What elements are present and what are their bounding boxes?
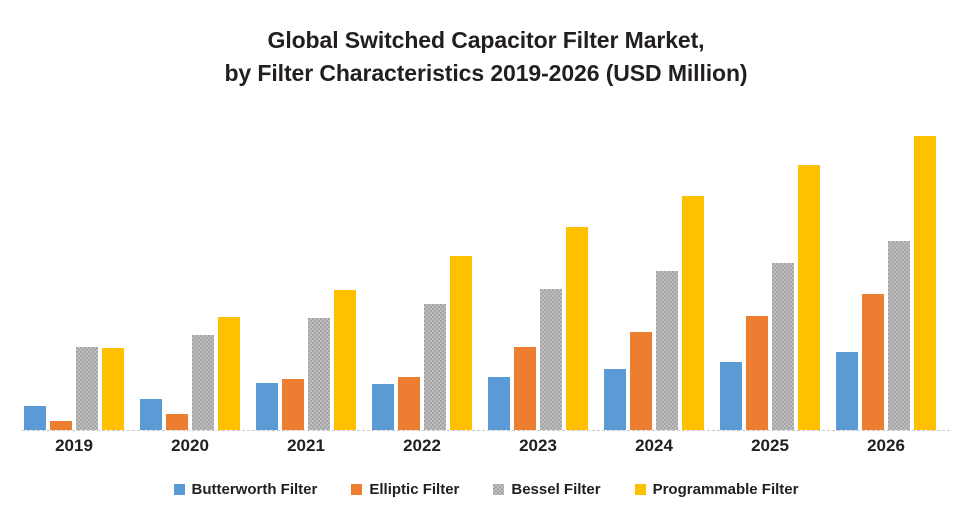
bar-programmable-2019 — [102, 348, 124, 430]
bar-butterworth-2022 — [372, 384, 394, 430]
category-label-2023: 2023 — [478, 436, 598, 456]
legend-item-butterworth[interactable]: Butterworth Filter — [174, 481, 318, 498]
legend-label-bessel: Bessel Filter — [511, 481, 600, 498]
category-axis-labels: 20192020202120222023202420252026 — [22, 436, 950, 460]
bar-bessel-2022 — [424, 304, 446, 430]
bar-programmable-2026 — [914, 136, 936, 430]
category-label-2026: 2026 — [826, 436, 946, 456]
bar-programmable-2025 — [798, 165, 820, 430]
legend-item-programmable[interactable]: Programmable Filter — [635, 481, 799, 498]
bar-elliptic-2023 — [514, 347, 536, 430]
legend-swatch-elliptic-icon — [351, 484, 362, 495]
bar-programmable-2023 — [566, 227, 588, 430]
bar-butterworth-2026 — [836, 352, 858, 430]
chart-title-line-1: Global Switched Capacitor Filter Market, — [0, 24, 972, 57]
chart-title: Global Switched Capacitor Filter Market,… — [0, 24, 972, 89]
legend-item-bessel[interactable]: Bessel Filter — [493, 481, 600, 498]
bar-programmable-2021 — [334, 290, 356, 430]
bar-programmable-2022 — [450, 256, 472, 430]
bar-butterworth-2025 — [720, 362, 742, 430]
bar-bessel-2021 — [308, 318, 330, 430]
bar-group-2019 — [24, 120, 124, 430]
legend-item-elliptic[interactable]: Elliptic Filter — [351, 481, 459, 498]
legend-label-butterworth: Butterworth Filter — [192, 481, 318, 498]
legend-swatch-bessel-icon — [493, 484, 504, 495]
bar-bessel-2026 — [888, 241, 910, 430]
bar-programmable-2020 — [218, 317, 240, 430]
bar-butterworth-2020 — [140, 399, 162, 430]
chart-legend: Butterworth FilterElliptic FilterBessel … — [0, 481, 972, 498]
bar-butterworth-2019 — [24, 406, 46, 430]
chart-title-line-2: by Filter Characteristics 2019-2026 (USD… — [0, 57, 972, 90]
category-label-2021: 2021 — [246, 436, 366, 456]
category-label-2025: 2025 — [710, 436, 830, 456]
bar-group-2024 — [604, 120, 704, 430]
category-axis-line — [22, 430, 950, 431]
legend-label-elliptic: Elliptic Filter — [369, 481, 459, 498]
bar-bessel-2024 — [656, 271, 678, 430]
bar-elliptic-2020 — [166, 414, 188, 430]
bar-elliptic-2019 — [50, 421, 72, 430]
bar-group-2023 — [488, 120, 588, 430]
bar-butterworth-2024 — [604, 369, 626, 430]
legend-label-programmable: Programmable Filter — [653, 481, 799, 498]
bar-elliptic-2022 — [398, 377, 420, 430]
category-label-2022: 2022 — [362, 436, 482, 456]
bar-butterworth-2021 — [256, 383, 278, 430]
bar-bessel-2023 — [540, 289, 562, 430]
bar-elliptic-2021 — [282, 379, 304, 430]
bar-group-2021 — [256, 120, 356, 430]
bar-group-2025 — [720, 120, 820, 430]
bar-programmable-2024 — [682, 196, 704, 430]
bar-butterworth-2023 — [488, 377, 510, 430]
legend-swatch-butterworth-icon — [174, 484, 185, 495]
bar-group-2026 — [836, 120, 936, 430]
bar-elliptic-2024 — [630, 332, 652, 430]
category-label-2024: 2024 — [594, 436, 714, 456]
plot-area — [22, 120, 950, 431]
bar-chart: Global Switched Capacitor Filter Market,… — [0, 0, 972, 525]
bar-bessel-2019 — [76, 347, 98, 430]
bar-group-2022 — [372, 120, 472, 430]
bar-group-2020 — [140, 120, 240, 430]
bar-bessel-2020 — [192, 335, 214, 430]
category-label-2020: 2020 — [130, 436, 250, 456]
bar-elliptic-2025 — [746, 316, 768, 430]
legend-swatch-programmable-icon — [635, 484, 646, 495]
bar-bessel-2025 — [772, 263, 794, 430]
bar-elliptic-2026 — [862, 294, 884, 430]
category-label-2019: 2019 — [14, 436, 134, 456]
